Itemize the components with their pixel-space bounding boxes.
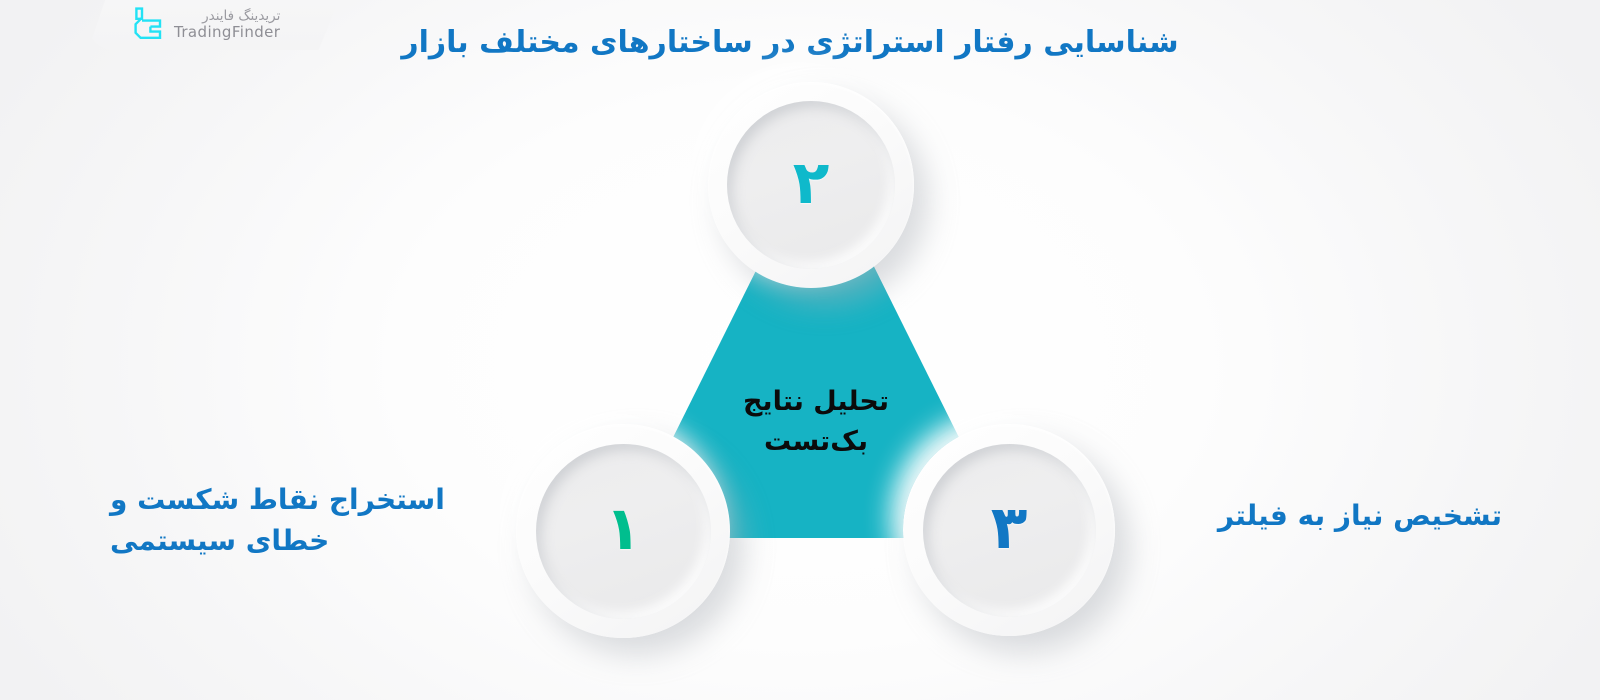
node-label-right: تشخیص نیاز به فیلتر (1142, 496, 1502, 537)
node-number-2: ۲ (793, 153, 830, 213)
brand-name-fa: تریدینگ فایندر (174, 9, 280, 24)
node-circle-1-inner: ۱ (536, 444, 711, 619)
node-number-1: ۱ (605, 499, 642, 559)
node-circle-3-inner: ۳ (923, 444, 1096, 617)
node-circle-1[interactable]: ۱ (516, 424, 730, 638)
node-label-left: استخراج نقاط شکست و خطای سیستمی (110, 480, 480, 561)
node-circle-2-inner: ۲ (727, 101, 895, 269)
page-title: شناسایی رفتار استراتژی در ساختارهای مختل… (0, 25, 1600, 60)
node-circle-2[interactable]: ۲ (708, 82, 914, 288)
infographic-canvas: تریدینگ فایندر TradingFinder شناسایی رفت… (0, 0, 1600, 700)
node-number-3: ۳ (991, 498, 1028, 558)
node-circle-3[interactable]: ۳ (903, 424, 1115, 636)
